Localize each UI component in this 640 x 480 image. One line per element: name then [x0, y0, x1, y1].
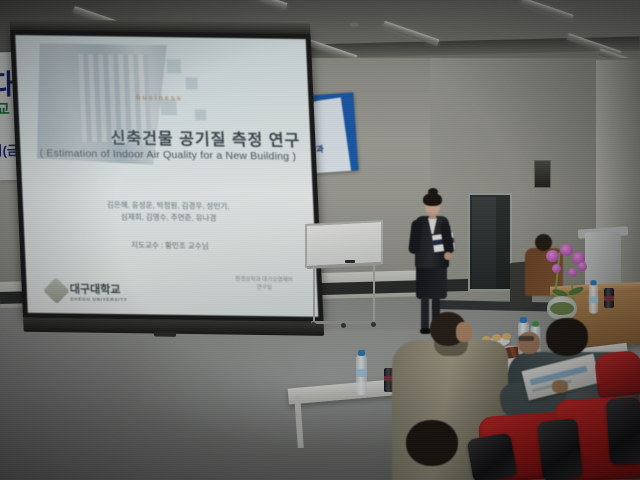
wall-speaker-icon	[534, 160, 551, 188]
audience-member-foreground	[392, 420, 472, 480]
photo-scene: 대 교 . 의(금) 발표회 표회 구대학교 환경공학과 business 신축…	[0, 0, 640, 480]
projection-screen: business 신축건물 공기질 측정 연구 ( Estimation of …	[10, 30, 324, 334]
whiteboard-leg	[313, 266, 315, 322]
slide-pixel-block	[185, 77, 198, 89]
whiteboard-marker[interactable]	[345, 260, 355, 263]
eyeglasses-icon	[518, 336, 534, 341]
university-logo: 대구대학교 DAEGU UNIVERSITY	[46, 280, 127, 302]
orchid-bloom	[552, 264, 561, 273]
caster-wheel	[371, 322, 376, 327]
vase-moss	[550, 302, 574, 315]
person-hand	[552, 380, 568, 393]
whiteboard	[305, 220, 383, 268]
bottle-cap	[591, 280, 597, 285]
beverage-can[interactable]	[604, 288, 614, 308]
door-leaf[interactable]	[472, 197, 496, 289]
orchid-bloom	[568, 268, 577, 277]
slide-footnote-line2: 연구실	[236, 284, 294, 293]
doorway[interactable]	[468, 193, 512, 291]
logo-text-korean: 대구대학교	[69, 280, 127, 297]
person-face	[456, 322, 472, 342]
orchid-bloom	[578, 262, 587, 271]
seat-armrest	[537, 418, 583, 480]
presentation-slide: business 신축건물 공기질 측정 연구 ( Estimation of …	[15, 35, 318, 317]
auditorium-seat[interactable]	[594, 350, 640, 399]
logo-text-english: DAEGU UNIVERSITY	[70, 296, 128, 302]
presenter-hand	[444, 252, 452, 260]
can-label	[604, 296, 614, 301]
slide-advisor: 지도교수 : 황민조 교수님	[24, 238, 315, 253]
person-head	[535, 234, 552, 251]
slide-pixel-block	[195, 109, 207, 120]
whiteboard-leg	[373, 262, 375, 322]
slide-footnote: 환경공학과 대기오염제어 연구실	[235, 276, 293, 293]
caster-wheel	[311, 322, 316, 327]
presenter-skirt	[416, 266, 447, 299]
water-bottle[interactable]	[356, 355, 367, 395]
person-head	[406, 420, 458, 466]
slide-photo-caption: business	[136, 95, 183, 103]
person-head	[546, 318, 588, 356]
logo-diamond-icon	[43, 277, 70, 304]
orchid-bloom	[560, 244, 573, 256]
seat-armrest	[606, 397, 640, 465]
presenter-hair-bun	[428, 188, 438, 196]
bottle-label	[589, 296, 598, 303]
slide-pixel-block	[166, 59, 181, 73]
ceiling-sprinkler	[350, 22, 359, 27]
caster-wheel	[341, 323, 346, 328]
slide-authors: 김은혜, 윤성운, 박정원, 김경우, 성민기, 심재희, 김영수, 주연준, …	[23, 198, 315, 226]
bottle-label	[356, 369, 367, 377]
screen-frame: business 신축건물 공기질 측정 연구 ( Estimation of …	[10, 30, 324, 322]
seat-armrest	[467, 433, 518, 480]
slide-subtitle: ( Estimation of Indoor Air Quality for a…	[34, 147, 301, 163]
screen-weight-bar	[154, 332, 176, 337]
bottle-cap	[358, 350, 365, 356]
water-bottle[interactable]	[589, 285, 598, 314]
whiteboard-stand	[305, 222, 383, 282]
orchid-bloom	[546, 250, 559, 262]
